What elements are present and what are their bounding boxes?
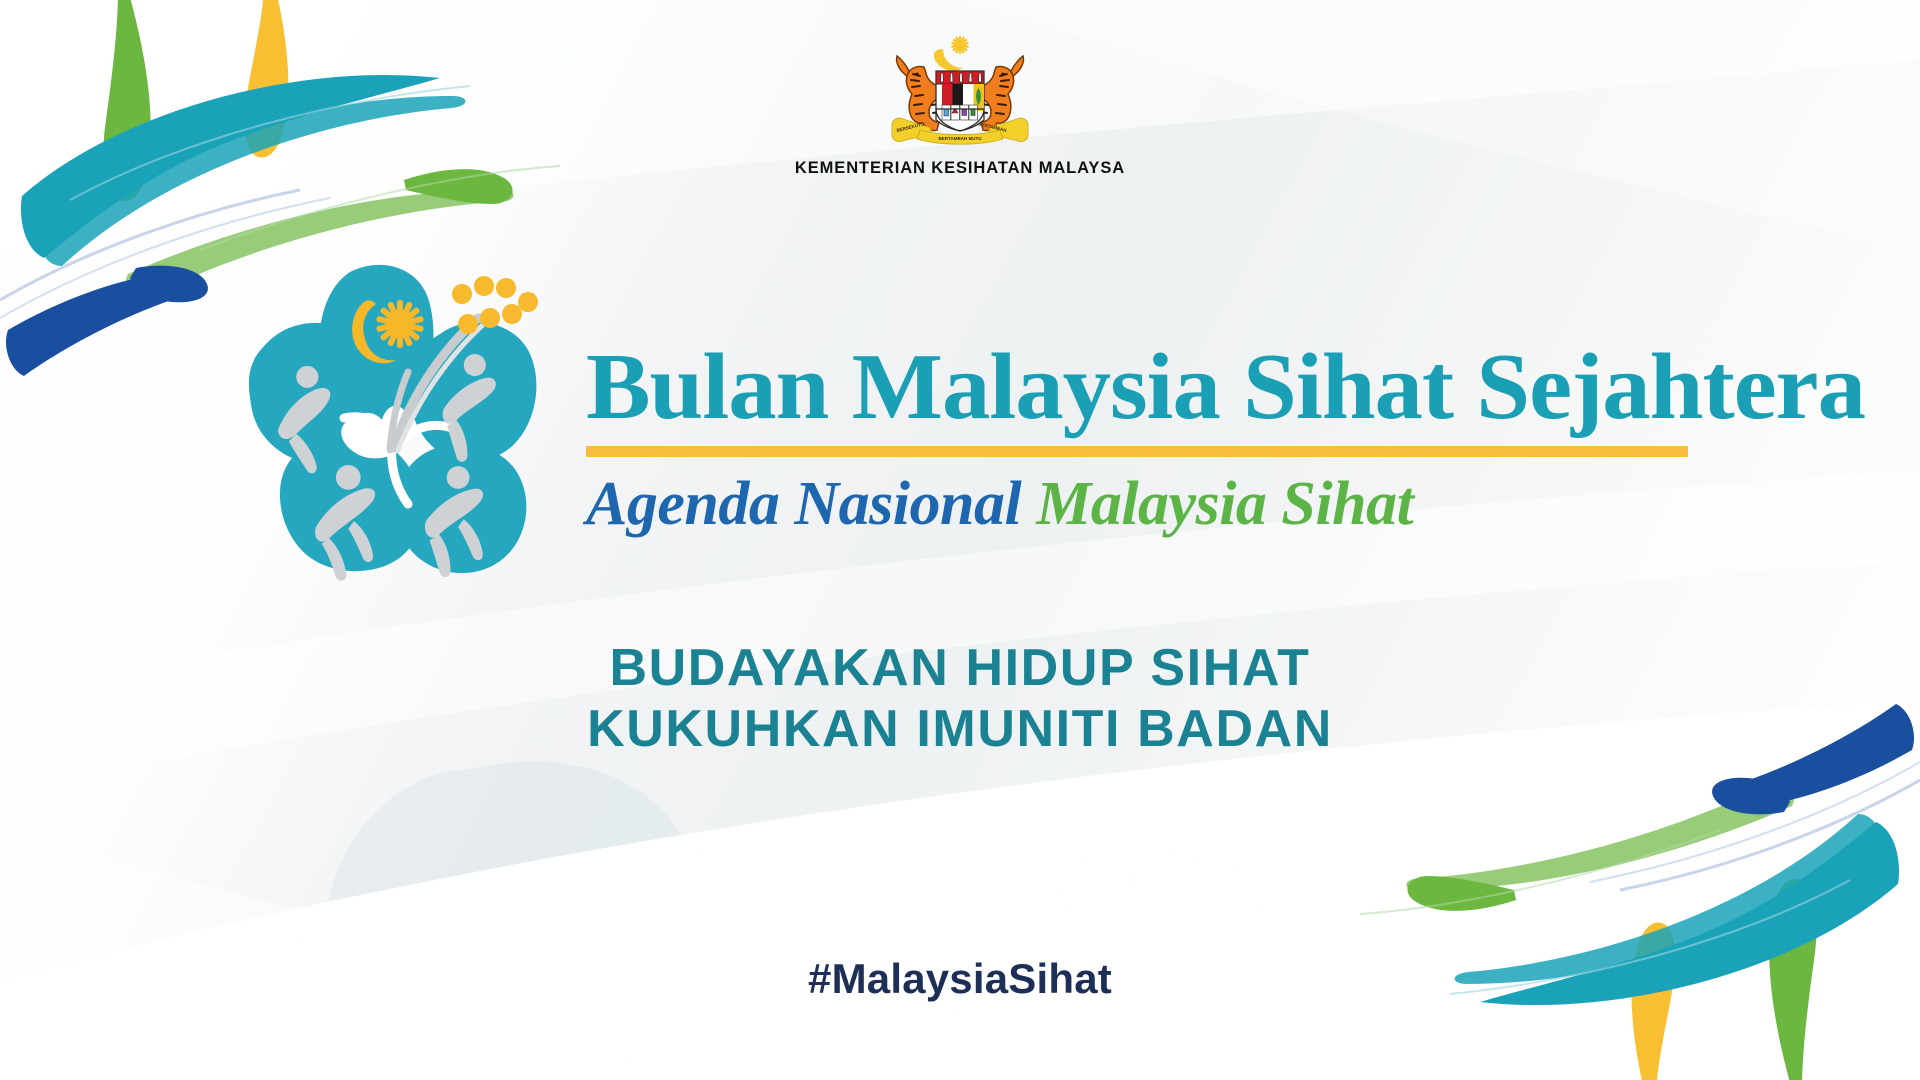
brush-stroke-green-arc bbox=[1407, 780, 1795, 890]
subtitle-agenda-nasional: Agenda Nasional bbox=[586, 470, 1021, 538]
campaign-title: Bulan Malaysia Sihat Sejahtera bbox=[586, 340, 1729, 434]
ministry-header: BERSEKUTU BERTAMBAH BERTAMBAH MUTU KEMEN… bbox=[0, 34, 1920, 178]
campaign-hashtag: #MalaysiaSihat bbox=[0, 955, 1920, 1003]
svg-text:BERTAMBAH MUTU: BERTAMBAH MUTU bbox=[939, 136, 982, 141]
wordmark-block: Bulan Malaysia Sihat Sejahtera Agenda Na… bbox=[586, 340, 1696, 537]
crest-star-crescent bbox=[934, 36, 969, 71]
gold-divider-rule bbox=[586, 446, 1688, 457]
campaign-subtitle: Agenda Nasional Malaysia Sihat bbox=[586, 472, 1696, 537]
hibiscus-watermark-bottom-left bbox=[132, 727, 1309, 1080]
ministry-name-label: KEMENTERIAN KESIHATAN MALAYSA bbox=[795, 159, 1125, 178]
hibiscus-logo bbox=[232, 252, 552, 582]
hibiscus-stamen-dots bbox=[452, 276, 538, 334]
subtitle-malaysia-sihat: Malaysia Sihat bbox=[1036, 470, 1413, 538]
brush-stroke-blue bbox=[6, 272, 202, 376]
crest-shield bbox=[936, 71, 984, 131]
malaysia-coat-of-arms-icon: BERSEKUTU BERTAMBAH BERTAMBAH MUTU bbox=[880, 34, 1040, 150]
promotional-banner: BERSEKUTU BERTAMBAH BERTAMBAH MUTU KEMEN… bbox=[0, 0, 1920, 1080]
tagline-line-1: BUDAYAKAN HIDUP SIHAT bbox=[0, 638, 1920, 699]
tagline-line-2: KUKUHKAN IMUNITI BADAN bbox=[0, 699, 1920, 760]
campaign-tagline: BUDAYAKAN HIDUP SIHAT KUKUHKAN IMUNITI B… bbox=[0, 638, 1920, 760]
